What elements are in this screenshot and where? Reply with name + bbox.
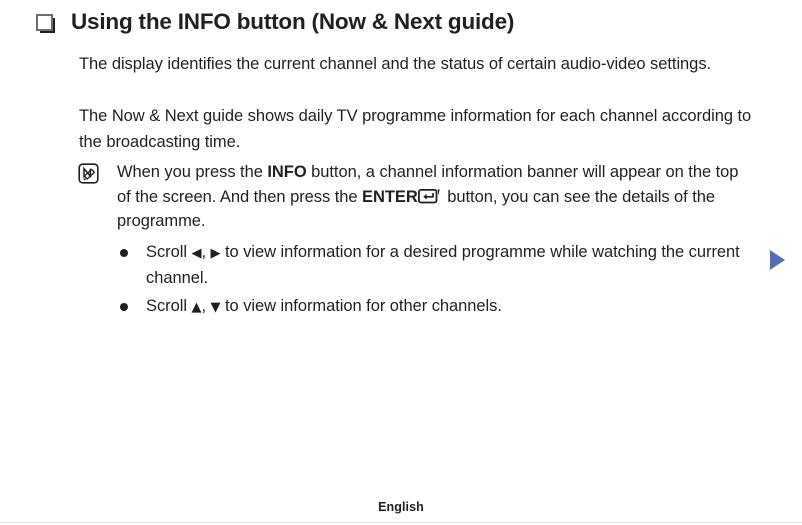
- next-page-triangle-icon[interactable]: [770, 250, 785, 270]
- note-text-part-1: When you press the: [117, 163, 267, 181]
- bullet-text-scroll-left-right: Scroll ◀, ▶ to view information for a de…: [146, 240, 756, 291]
- bullet-2-separator: ,: [201, 297, 210, 315]
- note-block: When you press the INFO button, a channe…: [78, 160, 756, 234]
- bullet-2-part-1: Scroll: [146, 297, 192, 315]
- shadowed-square-icon: [36, 14, 55, 33]
- bullet-text-scroll-up-down: Scroll ▲, ▼ to view information for othe…: [146, 294, 756, 320]
- down-arrow-icon: ▼: [211, 300, 221, 315]
- paragraph-now-next-guide: The Now & Next guide shows daily TV prog…: [79, 103, 755, 155]
- right-arrow-icon: ▶: [211, 246, 221, 261]
- note-bold-enter: ENTER: [362, 188, 418, 206]
- bullet-1-separator: ,: [201, 243, 210, 261]
- note-pencil-icon: [78, 163, 99, 184]
- up-arrow-icon: ▲: [192, 300, 202, 315]
- left-arrow-icon: ◀: [192, 246, 202, 261]
- list-item: Scroll ▲, ▼ to view information for othe…: [120, 294, 760, 320]
- note-text: When you press the INFO button, a channe…: [117, 160, 756, 234]
- round-bullet-icon: [120, 303, 128, 311]
- manual-page: Using the INFO button (Now & Next guide)…: [0, 0, 802, 525]
- list-item: Scroll ◀, ▶ to view information for a de…: [120, 240, 760, 291]
- round-bullet-icon: [120, 249, 128, 257]
- page-title: Using the INFO button (Now & Next guide): [71, 8, 514, 36]
- footer-language: English: [0, 500, 802, 514]
- enter-return-key-icon: [418, 187, 442, 202]
- bullet-1-part-1: Scroll: [146, 243, 192, 261]
- section-heading: Using the INFO button (Now & Next guide): [36, 8, 514, 36]
- bullet-list: Scroll ◀, ▶ to view information for a de…: [120, 240, 760, 323]
- note-bold-info: INFO: [267, 163, 306, 181]
- bullet-1-part-2: to view information for a desired progra…: [146, 243, 740, 287]
- bullet-2-part-2: to view information for other channels.: [220, 297, 501, 315]
- footer-divider: [0, 522, 802, 523]
- paragraph-display-identifies: The display identifies the current chann…: [79, 51, 755, 77]
